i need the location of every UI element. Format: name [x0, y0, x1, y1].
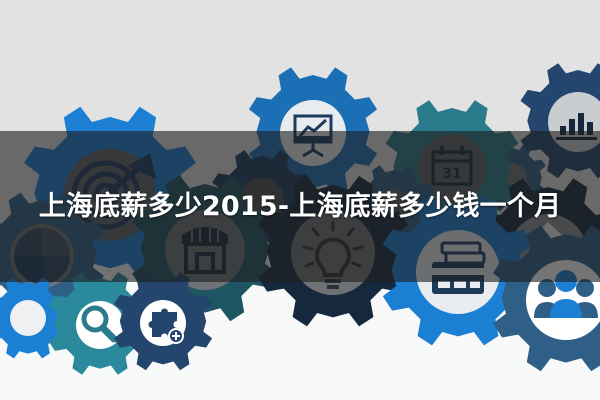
banner-image: 31 — [0, 0, 600, 400]
title-block: 上海底薪多少2015-上海底薪多少钱一个月 — [0, 131, 600, 282]
page-title: 上海底薪多少2015-上海底薪多少钱一个月 — [22, 188, 578, 226]
